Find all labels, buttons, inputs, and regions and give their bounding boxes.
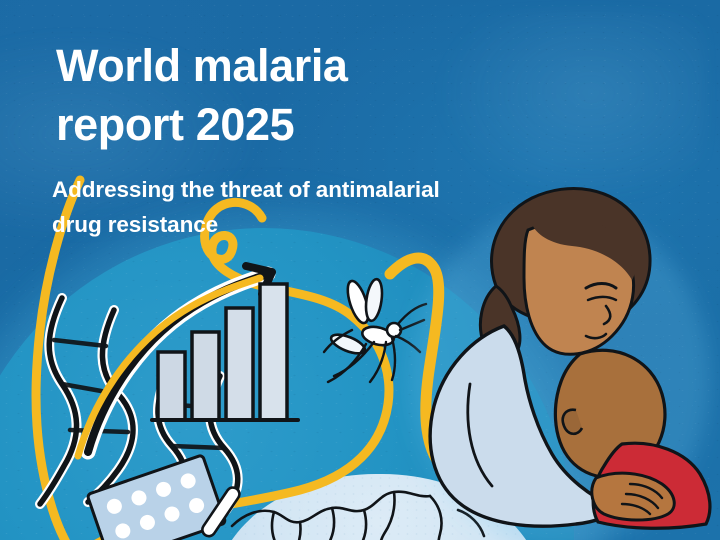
report-cover: World malaria report 2025 Addressing the…: [0, 0, 720, 540]
cover-subtitle-line-2: drug resistance: [52, 207, 522, 242]
cover-title-line-2: report 2025: [56, 95, 526, 154]
globe-landmass-texture: [214, 474, 544, 540]
globe-landmass: [214, 474, 544, 540]
cover-subtitle-line-1: Addressing the threat of antimalarial: [52, 172, 522, 207]
cover-title-line-1: World malaria: [56, 36, 526, 95]
cover-title: World malaria report 2025: [56, 36, 526, 154]
cover-subtitle: Addressing the threat of antimalarial dr…: [52, 172, 522, 242]
